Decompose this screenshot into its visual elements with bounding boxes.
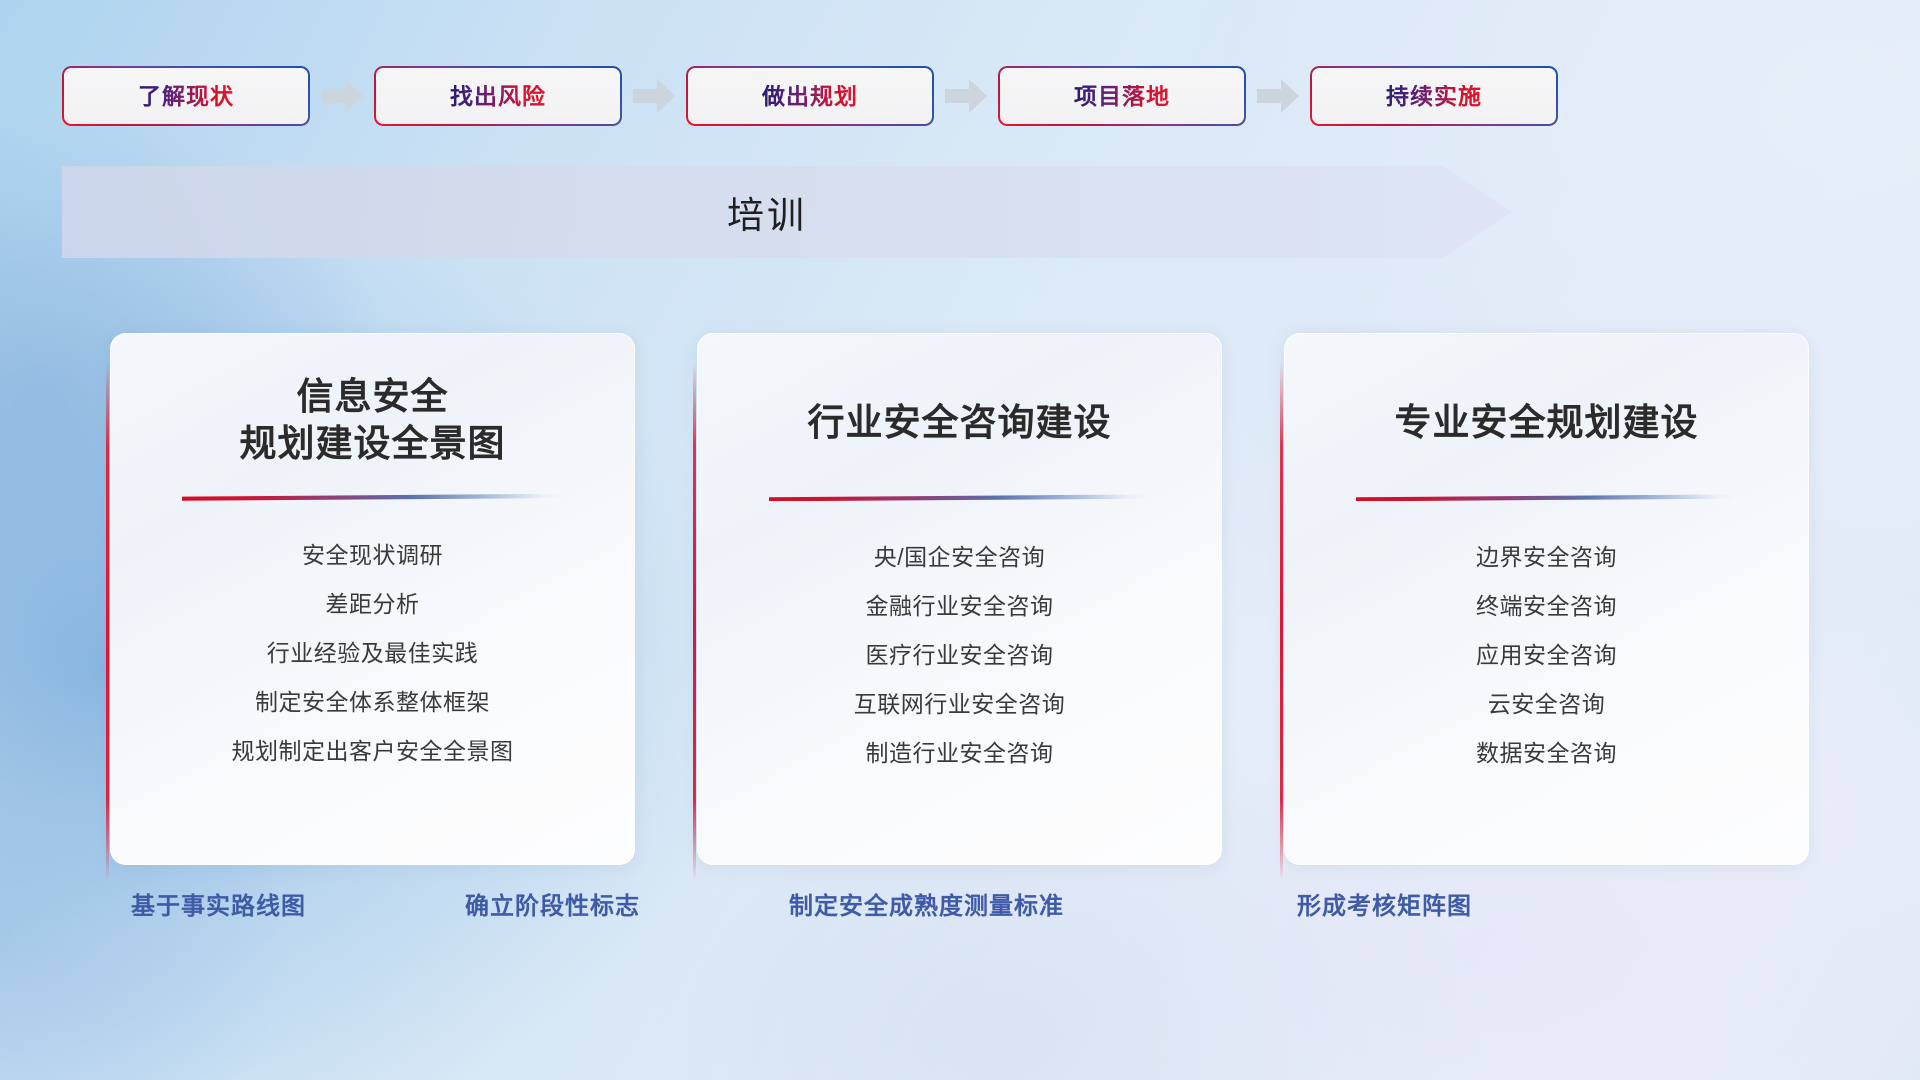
card-information-security-panorama[interactable]: 信息安全 规划建设全景图 安全现状调研 差距分析 行业经验及最佳实践 制定安全体…	[110, 333, 635, 865]
list-item: 边界安全咨询	[1284, 533, 1809, 582]
process-step-label: 持续实施	[1386, 85, 1482, 108]
process-arrow-2	[934, 79, 998, 113]
card-title-line: 规划建设全景图	[132, 420, 613, 467]
footnote-row: 基于事实路线图 确立阶段性标志 制定安全成熟度测量标准 形成考核矩阵图	[0, 895, 1920, 939]
card-title-line: 信息安全	[132, 373, 613, 420]
list-item: 数据安全咨询	[1284, 729, 1809, 778]
card-divider	[1356, 494, 1738, 501]
process-step-4[interactable]: 持续实施	[1310, 66, 1558, 126]
process-step-0[interactable]: 了解现状	[62, 66, 310, 126]
process-step-label: 了解现状	[138, 85, 234, 108]
process-step-2[interactable]: 做出规划	[686, 66, 934, 126]
list-item: 互联网行业安全咨询	[697, 680, 1222, 729]
card-divider	[769, 494, 1151, 501]
list-item: 医疗行业安全咨询	[697, 631, 1222, 680]
training-banner: 培训	[62, 166, 1512, 258]
process-arrow-0	[310, 79, 374, 113]
card-title: 信息安全 规划建设全景图	[110, 373, 635, 468]
process-step-1[interactable]: 找出风险	[374, 66, 622, 126]
process-arrow-1	[622, 79, 686, 113]
card-title: 行业安全咨询建设	[697, 377, 1222, 446]
footnote-1: 确立阶段性标志	[465, 895, 640, 919]
list-item: 云安全咨询	[1284, 680, 1809, 729]
card-industry-security-consulting[interactable]: 行业安全咨询建设 央/国企安全咨询 金融行业安全咨询 医疗行业安全咨询 互联网行…	[697, 333, 1222, 865]
card-item-list: 安全现状调研 差距分析 行业经验及最佳实践 制定安全体系整体框架 规划制定出客户…	[110, 531, 635, 776]
card-title-line: 专业安全规划建设	[1306, 399, 1787, 446]
list-item: 央/国企安全咨询	[697, 533, 1222, 582]
list-item: 应用安全咨询	[1284, 631, 1809, 680]
list-item: 行业经验及最佳实践	[110, 629, 635, 678]
list-item: 金融行业安全咨询	[697, 582, 1222, 631]
list-item: 安全现状调研	[110, 531, 635, 580]
footnote-2: 制定安全成熟度测量标准	[789, 895, 1064, 919]
training-banner-title: 培训	[62, 166, 1472, 258]
process-step-label: 做出规划	[762, 85, 858, 108]
footnote-3: 形成考核矩阵图	[1297, 895, 1472, 919]
card-item-list: 边界安全咨询 终端安全咨询 应用安全咨询 云安全咨询 数据安全咨询	[1284, 533, 1809, 778]
footnote-0: 基于事实路线图	[131, 895, 306, 919]
list-item: 差距分析	[110, 580, 635, 629]
card-item-list: 央/国企安全咨询 金融行业安全咨询 医疗行业安全咨询 互联网行业安全咨询 制造行…	[697, 533, 1222, 778]
process-step-label: 项目落地	[1074, 85, 1170, 108]
process-step-row: 了解现状 找出风险 做出规划 项目落地	[62, 66, 1858, 126]
card-row: 信息安全 规划建设全景图 安全现状调研 差距分析 行业经验及最佳实践 制定安全体…	[110, 333, 1810, 873]
card-title: 专业安全规划建设	[1284, 377, 1809, 446]
process-arrow-3	[1246, 79, 1310, 113]
list-item: 制定安全体系整体框架	[110, 678, 635, 727]
card-divider	[182, 494, 564, 501]
list-item: 规划制定出客户安全全景图	[110, 727, 635, 776]
process-step-label: 找出风险	[450, 85, 546, 108]
card-professional-security-planning[interactable]: 专业安全规划建设 边界安全咨询 终端安全咨询 应用安全咨询 云安全咨询 数据安全…	[1284, 333, 1809, 865]
card-title-line: 行业安全咨询建设	[719, 399, 1200, 446]
list-item: 制造行业安全咨询	[697, 729, 1222, 778]
list-item: 终端安全咨询	[1284, 582, 1809, 631]
process-step-3[interactable]: 项目落地	[998, 66, 1246, 126]
